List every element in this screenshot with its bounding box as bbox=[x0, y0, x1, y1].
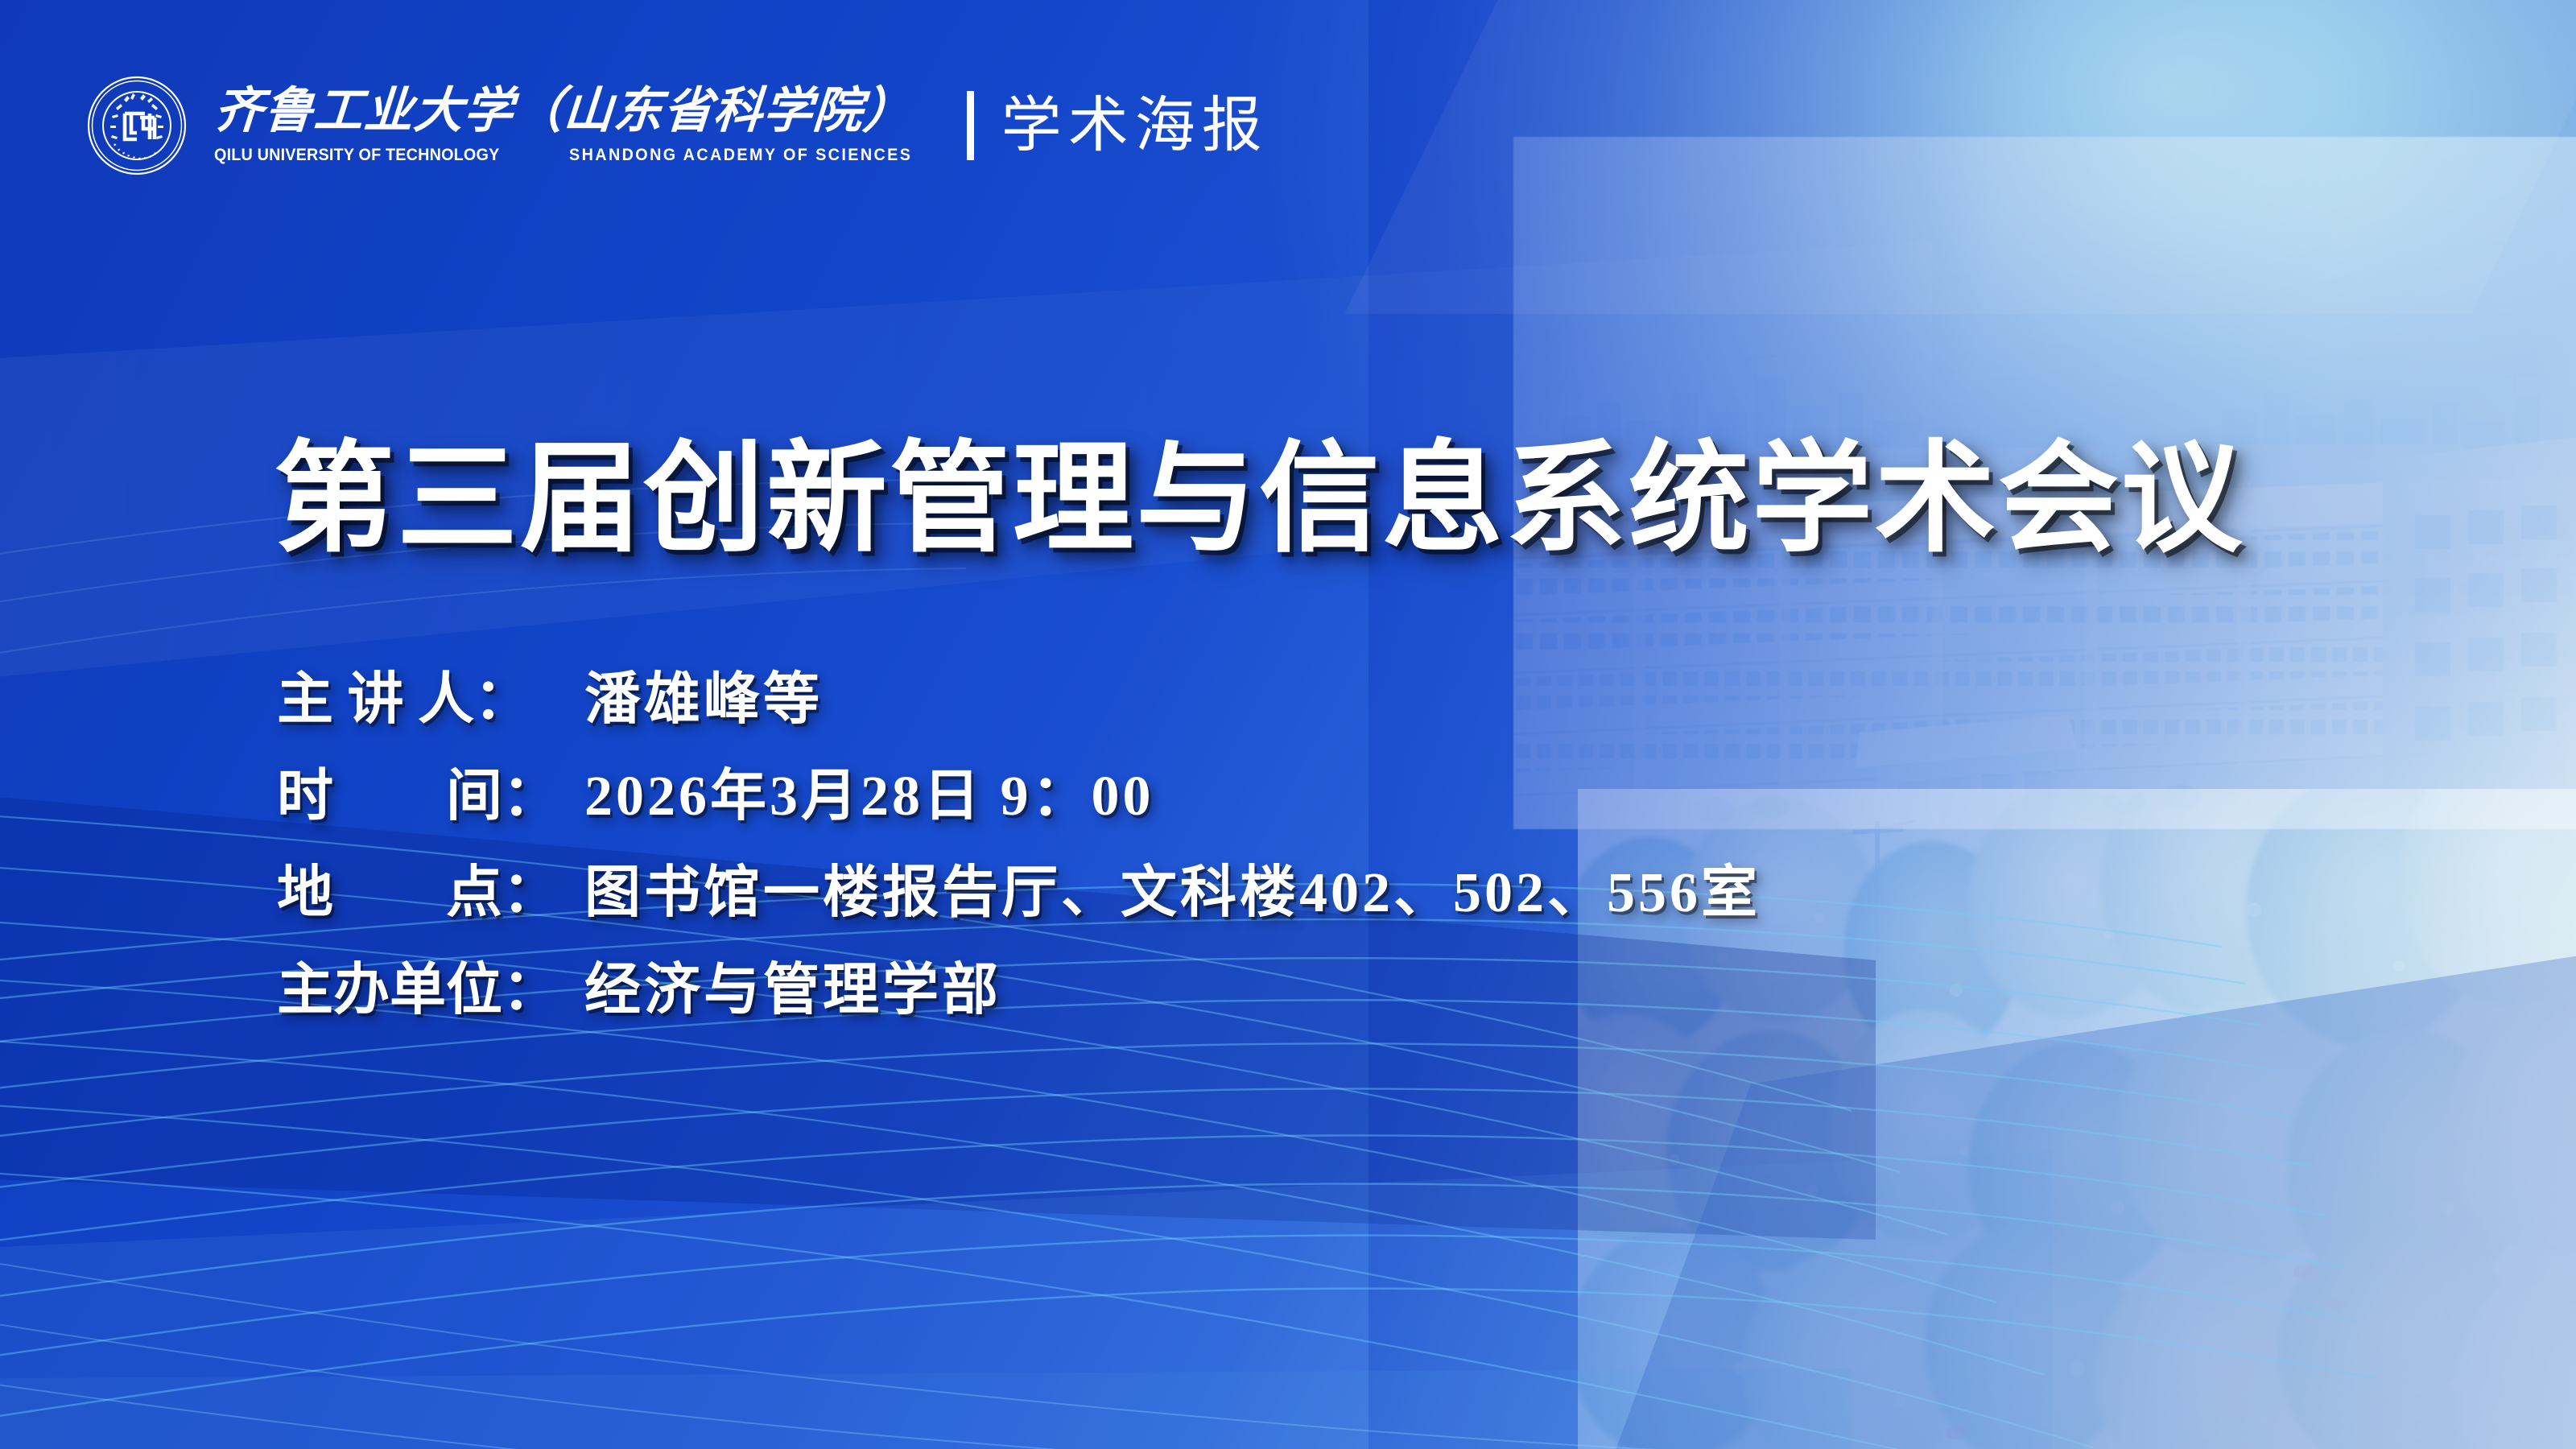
poster-kicker: 学术海报 bbox=[1001, 96, 1269, 156]
detail-row-location: 地 点： 图书馆一楼报告厅、文科楼402、502、556室 bbox=[277, 858, 2410, 929]
organizer-label: 主办单位： bbox=[277, 956, 543, 1026]
university-name-cn: 齐鲁工业大学（山东省科学院） bbox=[213, 87, 944, 136]
time-label: 时 间： bbox=[277, 762, 543, 832]
vertical-bar-divider-icon bbox=[967, 91, 974, 160]
location-label: 地 点： bbox=[277, 858, 543, 929]
organizer-value: 经济与管理学部 bbox=[584, 956, 1001, 1026]
detail-row-time: 时 间： 2026年3月28日 9：00 bbox=[277, 762, 2410, 832]
university-wordmark: 齐鲁工业大学（山东省科学院） QILU UNIVERSITY OF TECHNO… bbox=[214, 80, 943, 171]
university-name-en-primary: QILU UNIVERSITY OF TECHNOLOGY bbox=[214, 145, 499, 165]
speaker-label: 主 讲 人： bbox=[277, 665, 543, 736]
poster-details: 主 讲 人： 潘雄峰等 时 间： 2026年3月28日 9：00 地 点： 图书… bbox=[277, 665, 2410, 1052]
time-value: 2026年3月28日 9：00 bbox=[584, 762, 1154, 832]
detail-row-organizer: 主办单位： 经济与管理学部 bbox=[277, 956, 2410, 1026]
academic-poster: 齐鲁工业大学（山东省科学院） QILU UNIVERSITY OF TECHNO… bbox=[0, 0, 2576, 1449]
page-title: 第三届创新管理与信息系统学术会议 bbox=[274, 435, 2479, 565]
speaker-value: 潘雄峰等 bbox=[584, 665, 823, 736]
detail-row-speaker: 主 讲 人： 潘雄峰等 bbox=[277, 665, 2410, 736]
university-name-en: QILU UNIVERSITY OF TECHNOLOGY SHANDONG A… bbox=[214, 145, 943, 165]
location-value: 图书馆一楼报告厅、文科楼402、502、556室 bbox=[584, 858, 1761, 929]
qilu-university-seal-icon bbox=[87, 76, 187, 175]
poster-header: 齐鲁工业大学（山东省科学院） QILU UNIVERSITY OF TECHNO… bbox=[87, 77, 1269, 174]
university-name-en-secondary: SHANDONG ACADEMY OF SCIENCES bbox=[569, 145, 912, 165]
